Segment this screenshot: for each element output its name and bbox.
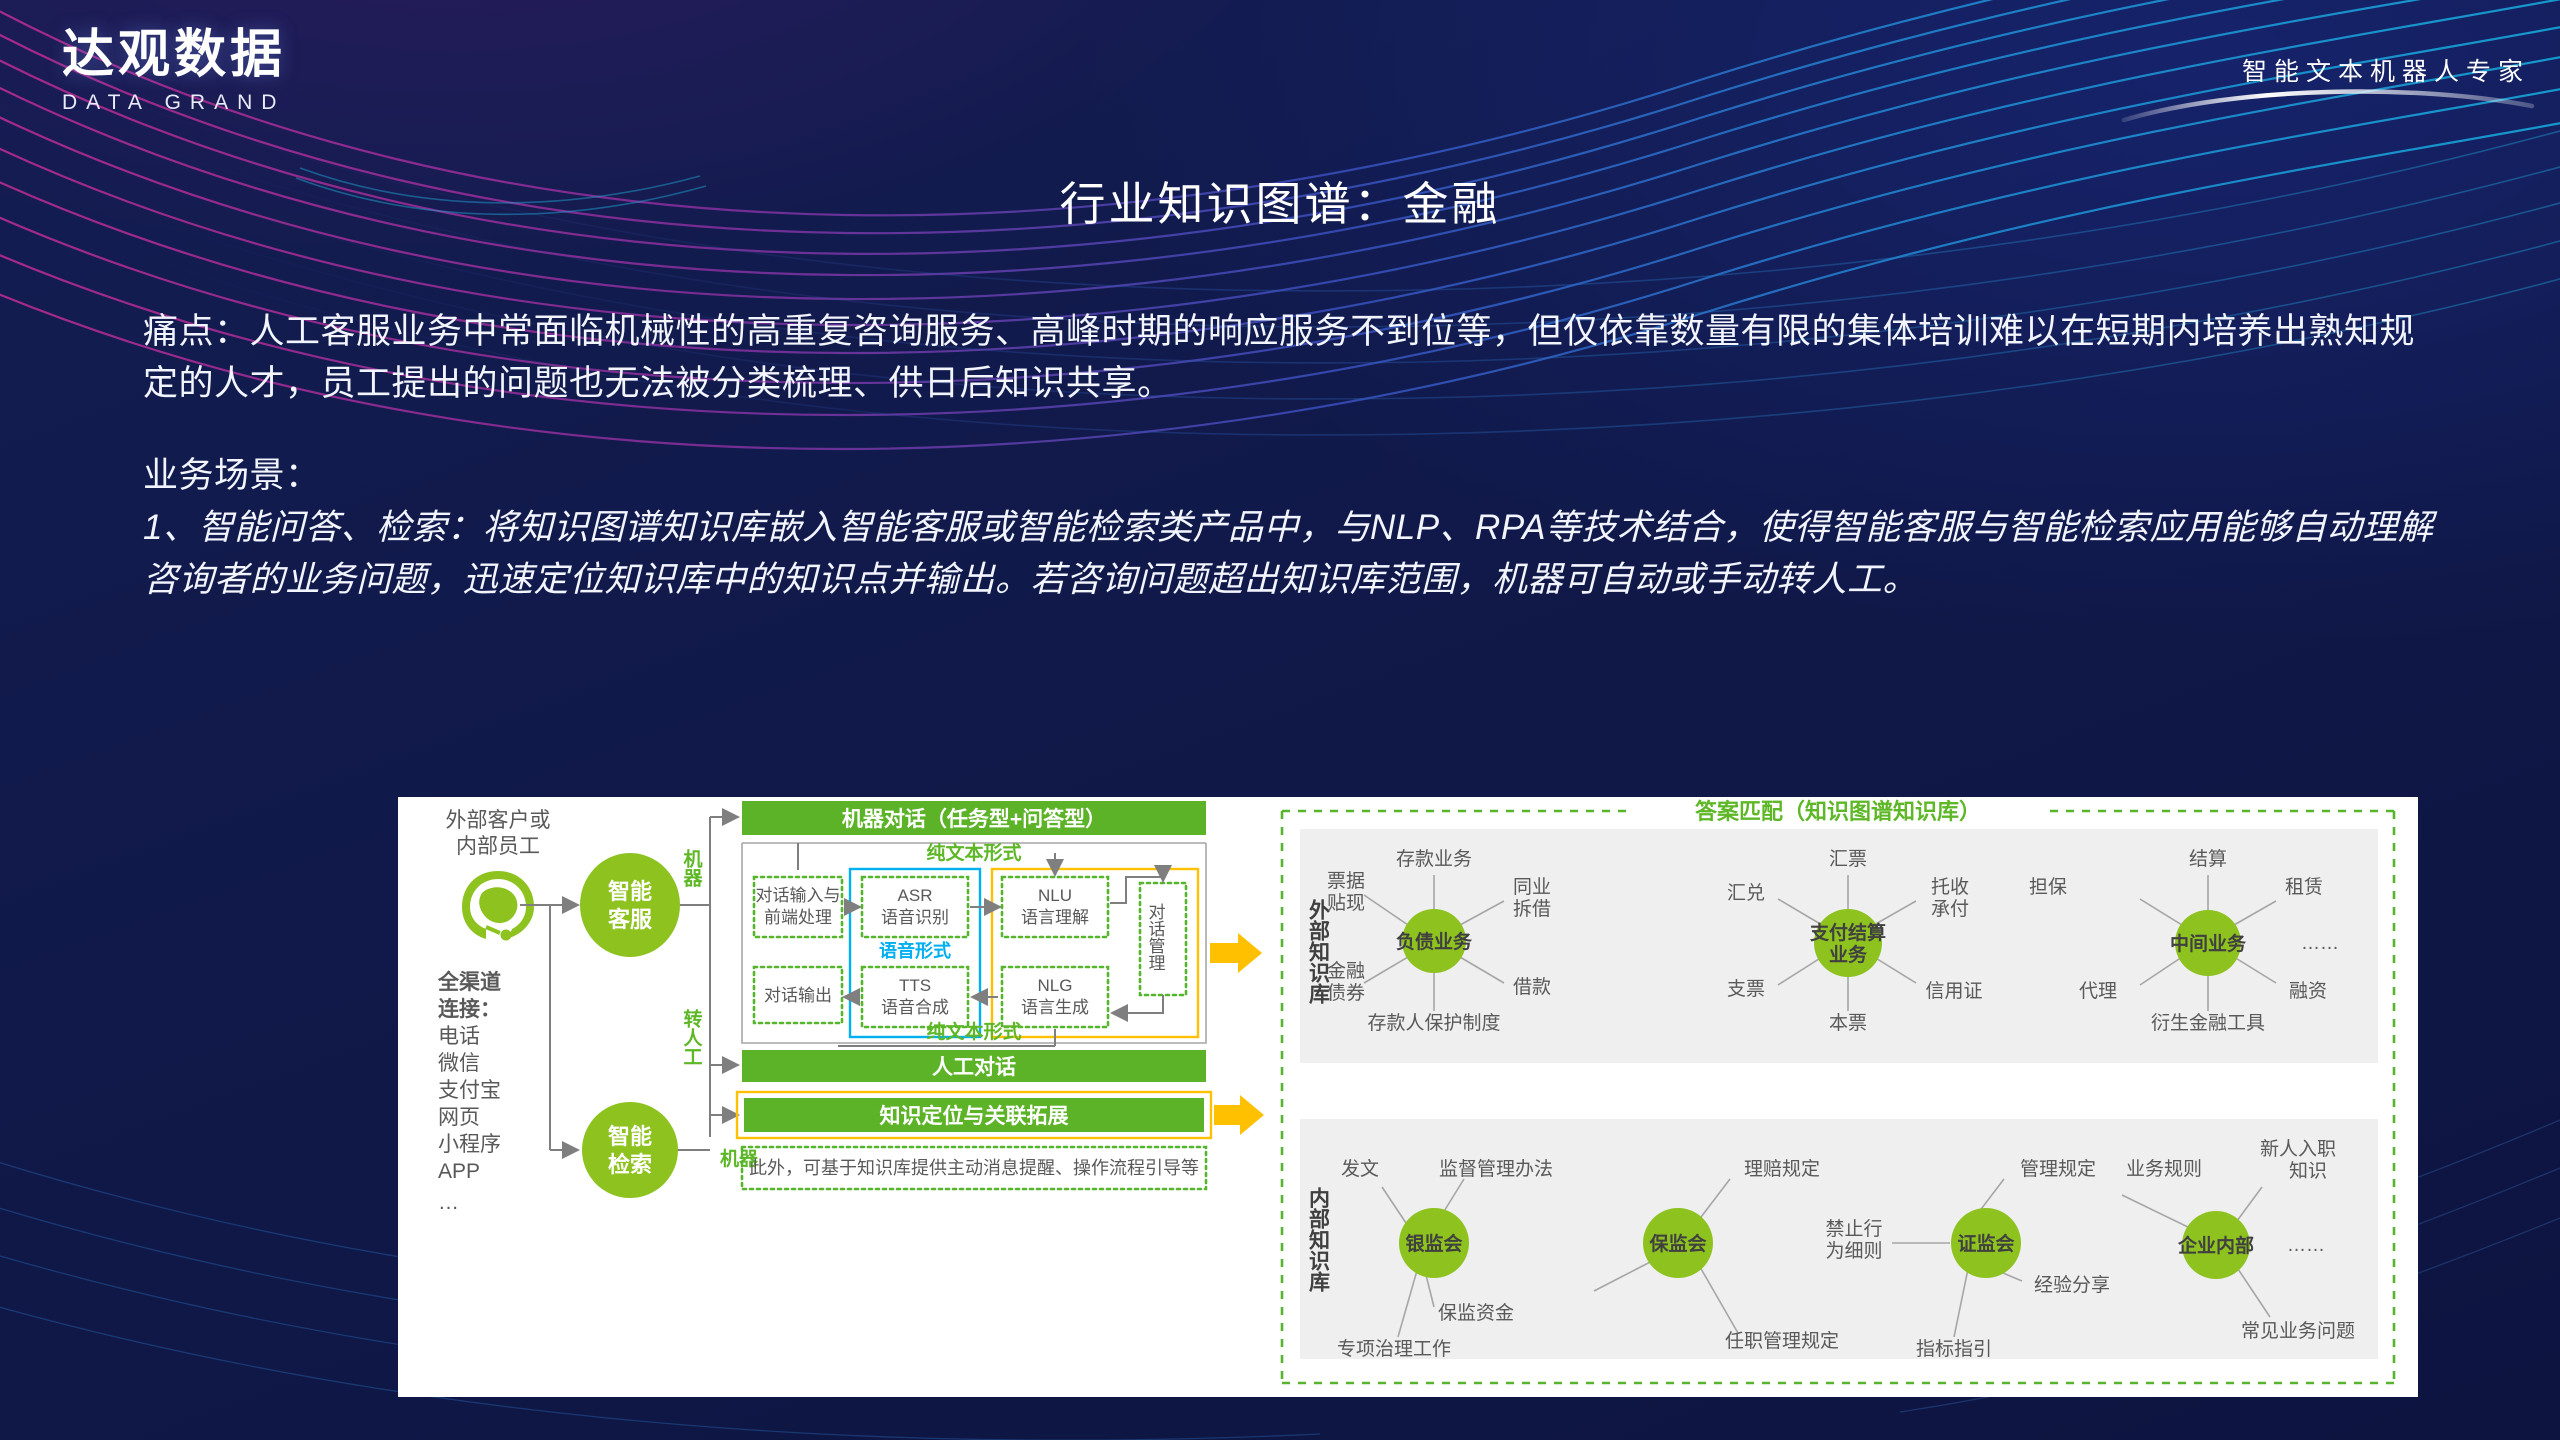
svg-text:禁止行: 禁止行 — [1825, 1218, 1882, 1240]
svg-text:业务: 业务 — [1829, 943, 1868, 966]
svg-text:客服: 客服 — [608, 907, 653, 932]
svg-text:衍生金融工具: 衍生金融工具 — [2151, 1012, 2265, 1034]
channel-item-3: 网页 — [438, 1106, 480, 1129]
brand-logo: 达观数据 DATA GRAND — [62, 28, 286, 115]
edge-label-machine-vertical: 机器 — [681, 849, 704, 888]
paragraph-spacer — [143, 410, 2443, 450]
box-asr: ASR 语音识别 — [862, 877, 968, 937]
svg-text:智能: 智能 — [608, 879, 652, 904]
svg-text:保监会: 保监会 — [1648, 1232, 1706, 1255]
svg-text:代理: 代理 — [2079, 980, 2117, 1002]
svg-text:NLG: NLG — [1038, 976, 1073, 995]
svg-text:信用证: 信用证 — [1925, 980, 1982, 1002]
svg-text:业务规则: 业务规则 — [2126, 1158, 2202, 1180]
svg-text:托收: 托收 — [1931, 876, 1969, 898]
group-label-plain-text-bottom: 纯文本形式 — [926, 1020, 1021, 1043]
svg-text:中间业务: 中间业务 — [2170, 932, 2247, 955]
svg-text:知识定位与关联拓展: 知识定位与关联拓展 — [880, 1104, 1069, 1128]
svg-text:融资: 融资 — [2289, 980, 2327, 1002]
svg-text:保监资金: 保监资金 — [1438, 1302, 1514, 1324]
channel-item-4: 小程序 — [438, 1133, 501, 1156]
svg-text:知识: 知识 — [2289, 1160, 2327, 1182]
right-panel-title: 答案匹配（知识图谱知识库） — [1695, 799, 1981, 824]
svg-text:拆借: 拆借 — [1513, 898, 1551, 920]
svg-text:银监会: 银监会 — [1405, 1232, 1462, 1255]
svg-text:语音合成: 语音合成 — [881, 998, 949, 1017]
orange-arrow-bottom — [1214, 1095, 1264, 1135]
svg-text:NLU: NLU — [1038, 886, 1072, 905]
svg-text:……: …… — [2287, 1235, 2325, 1256]
box-nlu: NLU 语言理解 — [1002, 877, 1108, 937]
bar-knowledge-locate: 知识定位与关联拓展 — [737, 1092, 1211, 1138]
svg-text:金融: 金融 — [1327, 960, 1365, 982]
svg-text:支票: 支票 — [1727, 978, 1765, 1000]
svg-text:存款人保护制度: 存款人保护制度 — [1367, 1012, 1500, 1034]
group-label-voice-form: 语音形式 — [879, 940, 951, 961]
svg-text:常见业务问题: 常见业务问题 — [2241, 1320, 2355, 1342]
svg-text:债券: 债券 — [1327, 982, 1365, 1004]
box-dialog-management: 对话管理 — [1140, 883, 1186, 995]
svg-text:同业: 同业 — [1513, 876, 1551, 898]
svg-text:存款业务: 存款业务 — [1396, 848, 1472, 870]
svg-text:支付结算: 支付结算 — [1809, 921, 1886, 944]
channel-heading-line2: 连接： — [438, 997, 501, 1021]
svg-text:借款: 借款 — [1513, 976, 1551, 998]
svg-text:此外，可基于知识库提供主动消息提醒、操作流程引导等: 此外，可基于知识库提供主动消息提醒、操作流程引导等 — [749, 1158, 1199, 1178]
svg-text:贴现: 贴现 — [1327, 892, 1365, 914]
svg-text:企业内部: 企业内部 — [2177, 1234, 2254, 1257]
group-label-plain-text-top: 纯文本形式 — [926, 841, 1021, 864]
body-copy: 痛点：人工客服业务中常面临机械性的高重复咨询服务、高峰时期的响应服务不到位等，但… — [143, 306, 2443, 606]
footnote-box: 此外，可基于知识库提供主动消息提醒、操作流程引导等 — [742, 1147, 1206, 1189]
brand-logo-cn: 达观数据 — [62, 28, 286, 83]
svg-text:语言理解: 语言理解 — [1021, 908, 1089, 927]
source-label-line2: 内部员工 — [456, 835, 540, 858]
box-nlg: NLG 语言生成 — [1002, 967, 1108, 1027]
svg-text:对话管理: 对话管理 — [1146, 903, 1166, 971]
svg-text:任职管理规定: 任职管理规定 — [1725, 1330, 1839, 1352]
channel-item-6: … — [438, 1191, 459, 1214]
svg-text:理赔规定: 理赔规定 — [1744, 1158, 1820, 1180]
smart-service-node: 智能 客服 — [580, 853, 680, 957]
brand-logo-en: DATA GRAND — [62, 91, 286, 115]
svg-text:为细则: 为细则 — [1825, 1240, 1882, 1262]
smart-search-node: 智能 检索 — [582, 1102, 678, 1198]
svg-text:负债业务: 负债业务 — [1396, 930, 1473, 953]
svg-text:汇票: 汇票 — [1829, 848, 1867, 870]
svg-text:语音识别: 语音识别 — [881, 908, 949, 927]
channel-item-1: 微信 — [438, 1052, 480, 1075]
svg-text:管理规定: 管理规定 — [2020, 1158, 2096, 1180]
bar-machine-dialog: 机器对话（任务型+问答型） — [742, 801, 1206, 835]
svg-text:机器对话（任务型+问答型）: 机器对话（任务型+问答型） — [842, 807, 1106, 831]
channel-item-0: 电话 — [438, 1025, 480, 1048]
svg-text:……: …… — [2301, 933, 2339, 954]
scenario-heading: 业务场景： — [143, 450, 2443, 502]
svg-text:专项治理工作: 专项治理工作 — [1337, 1338, 1451, 1360]
svg-text:结算: 结算 — [2189, 848, 2227, 870]
pain-point-paragraph: 痛点：人工客服业务中常面临机械性的高重复咨询服务、高峰时期的响应服务不到位等，但… — [143, 306, 2443, 410]
channel-heading-line1: 全渠道 — [437, 970, 501, 994]
svg-text:对话输出: 对话输出 — [764, 986, 832, 1005]
box-dialog-output: 对话输出 — [754, 967, 842, 1023]
svg-text:经验分享: 经验分享 — [2034, 1274, 2110, 1296]
svg-text:新人入职: 新人入职 — [2260, 1138, 2336, 1160]
svg-text:本票: 本票 — [1829, 1012, 1867, 1034]
channel-item-2: 支付宝 — [438, 1079, 501, 1102]
channel-item-5: APP — [438, 1160, 480, 1183]
svg-text:证监会: 证监会 — [1957, 1232, 2014, 1255]
svg-text:智能: 智能 — [608, 1124, 652, 1149]
box-tts: TTS 语音合成 — [862, 967, 968, 1027]
edge-label-to-human-vertical: 转人工 — [681, 1008, 703, 1066]
svg-text:票据: 票据 — [1327, 870, 1365, 892]
source-label-line1: 外部客户或 — [446, 809, 551, 832]
bar-human-dialog: 人工对话 — [742, 1050, 1206, 1082]
svg-text:TTS: TTS — [899, 976, 931, 995]
orange-arrow-top — [1210, 933, 1262, 973]
svg-text:人工对话: 人工对话 — [932, 1055, 1016, 1079]
svg-text:承付: 承付 — [1931, 898, 1969, 920]
svg-text:前端处理: 前端处理 — [764, 908, 832, 927]
svg-text:汇兑: 汇兑 — [1727, 882, 1765, 904]
svg-text:指标指引: 指标指引 — [1916, 1338, 1992, 1360]
page-title: 行业知识图谱：金融 — [0, 168, 2560, 234]
internal-kb-label: 内部知识库 — [1307, 1186, 1331, 1293]
box-dialog-input: 对话输入与 前端处理 — [754, 877, 842, 937]
svg-text:语言生成: 语言生成 — [1021, 998, 1089, 1017]
tagline-swoosh-decoration — [2118, 80, 2538, 124]
svg-text:担保: 担保 — [2029, 876, 2067, 898]
architecture-diagram: .cn { font-family: "Liberation Sans","De… — [398, 797, 2418, 1397]
svg-text:租赁: 租赁 — [2285, 876, 2323, 898]
svg-text:ASR: ASR — [898, 886, 933, 905]
svg-text:发文: 发文 — [1341, 1158, 1379, 1180]
svg-text:监督管理办法: 监督管理办法 — [1439, 1158, 1553, 1180]
svg-text:对话输入与: 对话输入与 — [756, 886, 841, 905]
svg-text:检索: 检索 — [608, 1152, 652, 1177]
scenario-item-1: 1、智能问答、检索：将知识图谱知识库嵌入智能客服或智能检索类产品中，与NLP、R… — [143, 502, 2443, 606]
